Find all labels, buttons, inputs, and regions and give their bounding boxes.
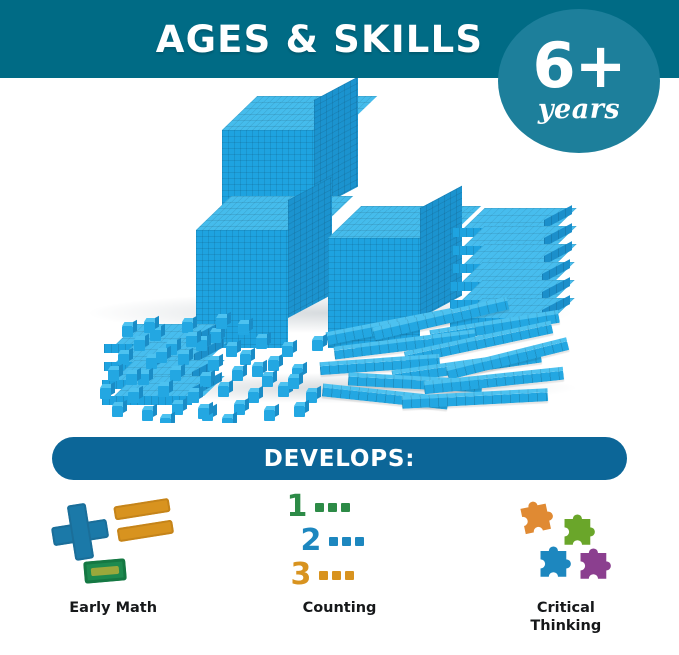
plus-icon [48,500,112,564]
unit-cube [268,360,279,371]
unit-cube [218,386,229,397]
unit-cube [264,410,275,421]
unit-cube [248,392,259,403]
skill-label: Critical Thinking [530,600,601,635]
unit-cube [262,376,273,387]
counting-number: 2 [300,526,321,556]
unit-cube [118,354,129,365]
unit-cube [112,406,123,417]
unit-cube [128,392,139,403]
unit-cube [222,418,233,423]
unit-cube [134,340,145,351]
unit-cube [186,336,197,347]
skill-early-math: Early Math [0,488,226,655]
unit-cube [216,318,227,329]
cube-face-right [288,177,332,318]
math-symbols-icon [38,488,188,598]
unit-cube [144,322,155,333]
minus-icon [83,558,127,584]
counting-number: 1 [286,492,307,522]
develops-banner: DEVELOPS: [52,437,627,480]
unit-cube [256,338,267,349]
skill-label: Early Math [69,600,157,618]
counting-numbers-icon: 1 2 3 [264,488,414,598]
skill-critical-thinking: Critical Thinking [453,488,679,655]
unit-cube [108,370,119,381]
counting-line-2: 2 [300,526,364,556]
counting-dots [325,537,364,546]
develops-label: DEVELOPS: [264,446,416,472]
counting-number: 3 [290,560,311,590]
counting-line-3: 3 [290,560,354,590]
counting-dots [315,571,354,580]
unit-cube [294,406,305,417]
unit-cube [210,332,221,343]
counting-line-1: 1 [286,492,350,522]
counting-dots [311,503,350,512]
unit-cube [226,346,237,357]
unit-cube [100,388,111,399]
puzzle-piece-purple-icon [575,542,621,588]
unit-cube [198,408,209,419]
unit-cube [282,346,293,357]
unit-cube [158,386,169,397]
unit-cube [160,418,171,423]
puzzle-pieces-icon [491,488,641,598]
puzzle-group [513,494,621,594]
unit-cube [252,366,263,377]
unit-cube [232,370,243,381]
unit-cube [156,352,167,363]
unit-cube [188,392,199,403]
age-badge-unit: years [538,96,620,123]
ten-rod [402,392,548,409]
equals-icon [113,498,175,546]
skills-row: Early Math 1 2 3 Counting [0,488,679,655]
unit-cube [142,410,153,421]
age-badge-number: 6+ [532,37,625,94]
skill-counting: 1 2 3 Counting [226,488,452,655]
unit-cube [288,378,299,389]
age-badge: 6+ years [498,9,660,153]
skill-label: Counting [303,600,377,618]
unit-cube [126,374,137,385]
unit-cube [238,324,249,335]
unit-cube [122,326,133,337]
unit-cube [312,340,323,351]
